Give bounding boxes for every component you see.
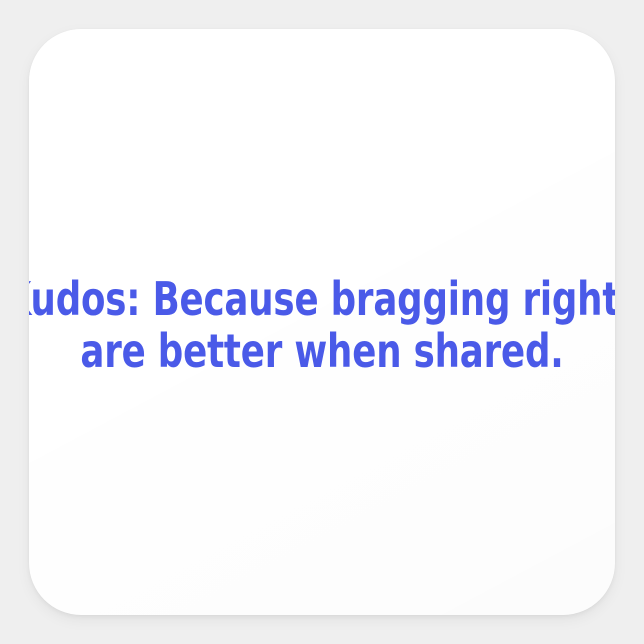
sticker-preview-canvas: Kudos: Because bragging rights are bette… <box>0 0 644 644</box>
quote-line-1: Kudos: Because bragging rights <box>29 273 615 325</box>
quote-text-block: Kudos: Because bragging rights are bette… <box>29 273 615 377</box>
sticker-artwork: Kudos: Because bragging rights are bette… <box>29 29 615 615</box>
square-sticker[interactable]: Kudos: Because bragging rights are bette… <box>29 29 615 615</box>
quote-line-2: are better when shared. <box>29 325 615 377</box>
